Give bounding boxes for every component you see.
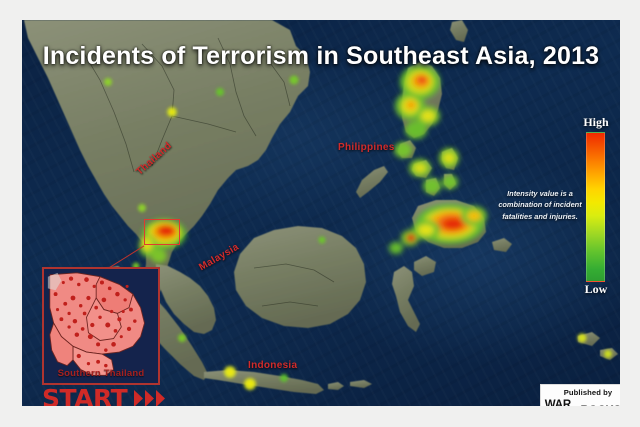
publisher-divider-icon bbox=[576, 406, 580, 407]
country-label-philippines: Philippines bbox=[338, 142, 395, 153]
publisher-name: WAR ON ROCKS bbox=[541, 399, 620, 406]
inset-title: Southern Thailand bbox=[44, 368, 158, 379]
legend-note: Intensity value is a combination of inci… bbox=[492, 188, 588, 222]
start-logo: START bbox=[42, 386, 170, 406]
inset-map-graphic bbox=[44, 269, 158, 383]
country-label-indonesia: Indonesia bbox=[248, 360, 297, 371]
triple-chevron-right-icon bbox=[134, 390, 168, 406]
publisher-name-left: WAR ON bbox=[541, 399, 575, 406]
published-by-label: Published by bbox=[541, 388, 620, 397]
legend-low-label: Low bbox=[574, 282, 618, 297]
legend-high-label: High bbox=[574, 115, 618, 130]
inset-map-southern-thailand: Southern Thailand bbox=[42, 267, 160, 385]
legend-gradient-bar bbox=[586, 132, 605, 282]
start-logo-text: START bbox=[42, 386, 127, 406]
screenshot-canvas: Incidents of Terrorism in Southeast Asia… bbox=[0, 0, 640, 427]
publisher-badge: Published by WAR ON ROCKS bbox=[540, 384, 620, 406]
publisher-name-right: ROCKS bbox=[580, 405, 620, 406]
inset-locator-box bbox=[144, 219, 180, 245]
map-figure: Incidents of Terrorism in Southeast Asia… bbox=[22, 20, 620, 406]
